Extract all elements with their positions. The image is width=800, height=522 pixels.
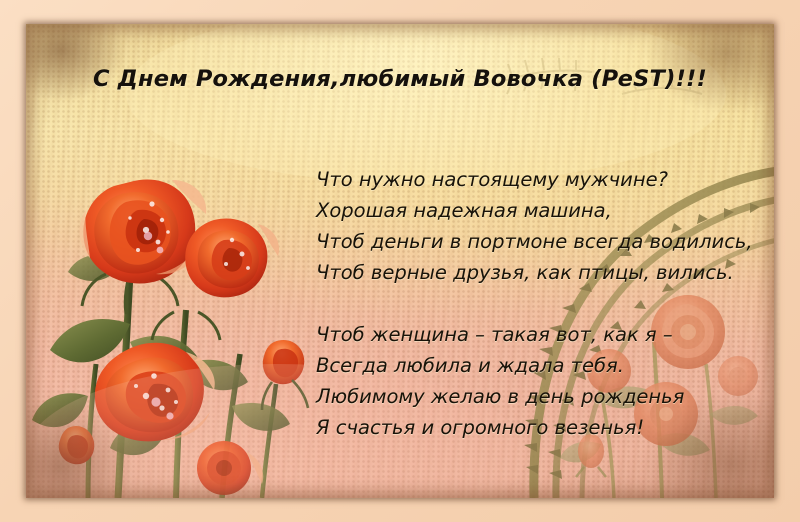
rose-bloom <box>80 180 207 284</box>
red-rose-bouquet <box>32 180 308 498</box>
card-title: С Днем Рождения,любимый Вовочка (PeST)!!… <box>26 66 774 92</box>
rose-bloom <box>185 218 279 297</box>
poem-line: Чтоб женщина – такая вот, как я – <box>316 319 753 350</box>
poem-stanza: Что нужно настоящему мужчине? Хорошая на… <box>316 164 753 288</box>
poem-text: Что нужно настоящему мужчине? Хорошая на… <box>316 164 753 443</box>
rose-bud <box>262 340 308 410</box>
poem-line: Я счастья и огромного везенья! <box>316 412 753 443</box>
card-artwork-plate: С Днем Рождения,любимый Вовочка (PeST)!!… <box>26 24 774 498</box>
rose-bud <box>59 426 94 464</box>
corner-shadow-bottom-left <box>26 352 182 498</box>
poem-stanza: Чтоб женщина – такая вот, как я – Всегда… <box>316 319 753 443</box>
poem-line: Чтоб деньги в портмоне всегда водились, <box>316 226 753 257</box>
greeting-card: С Днем Рождения,любимый Вовочка (PeST)!!… <box>0 0 800 522</box>
rose-bloom <box>197 441 263 495</box>
poem-line: Хорошая надежная машина, <box>316 195 753 226</box>
poem-line: Всегда любила и ждала тебя. <box>316 350 753 381</box>
poem-line: Чтоб верные друзья, как птицы, вились. <box>316 257 753 288</box>
poem-line: Что нужно настоящему мужчине? <box>316 164 753 195</box>
rose-bloom <box>95 343 215 442</box>
poem-line: Любимому желаю в день рожденья <box>316 381 753 412</box>
